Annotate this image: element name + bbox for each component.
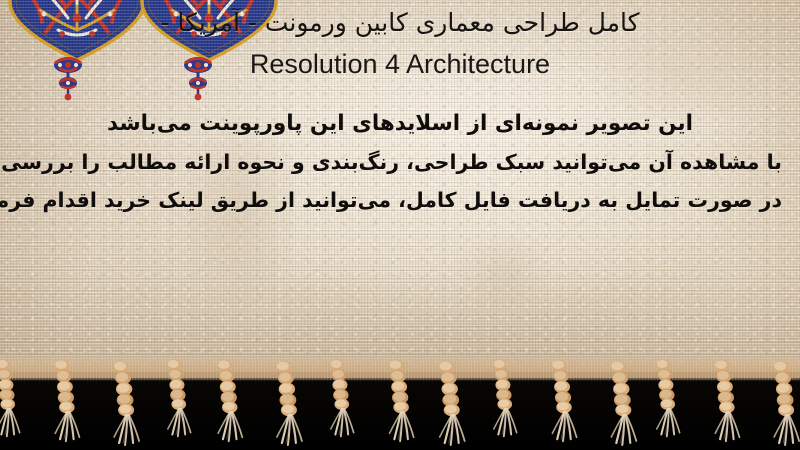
fringe-tassel [701,352,749,445]
knotted-carpet-fringe [0,352,800,450]
body-line-2: با مشاهده آن می‌توانید سبک طراحی، رنگ‌بن… [0,143,800,181]
body-line-1: این تصویر نمونه‌ای از اسلایدهای این پاور… [0,105,800,143]
fringe-tassel [644,352,692,440]
body-line-3: در صورت تمایل به دریافت فایل کامل، می‌تو… [0,181,800,219]
fringe-tassel [41,352,89,445]
fringe-tassel [149,352,197,440]
fringe-tassel [536,352,584,445]
fringe-tassel [314,352,362,440]
fringe-tassel [371,352,419,445]
fringe-tassel [428,352,476,450]
fringe-tassel [206,352,254,445]
fringe-tassel [0,352,32,440]
fringe-tassel [98,352,146,450]
slide-canvas: کامل طراحی معماری کابین ورمونت - آمریکا … [0,0,800,450]
body-text: این تصویر نمونه‌ای از اسلایدهای این پاور… [0,105,800,219]
page-subtitle: Resolution 4 Architecture [0,47,800,81]
page-title: کامل طراحی معماری کابین ورمونت - آمریکا … [20,8,780,38]
fringe-tassel [263,352,311,450]
fringe-tassel [758,352,800,450]
fringe-tassel [479,352,527,440]
fringe-tassel [593,352,641,450]
